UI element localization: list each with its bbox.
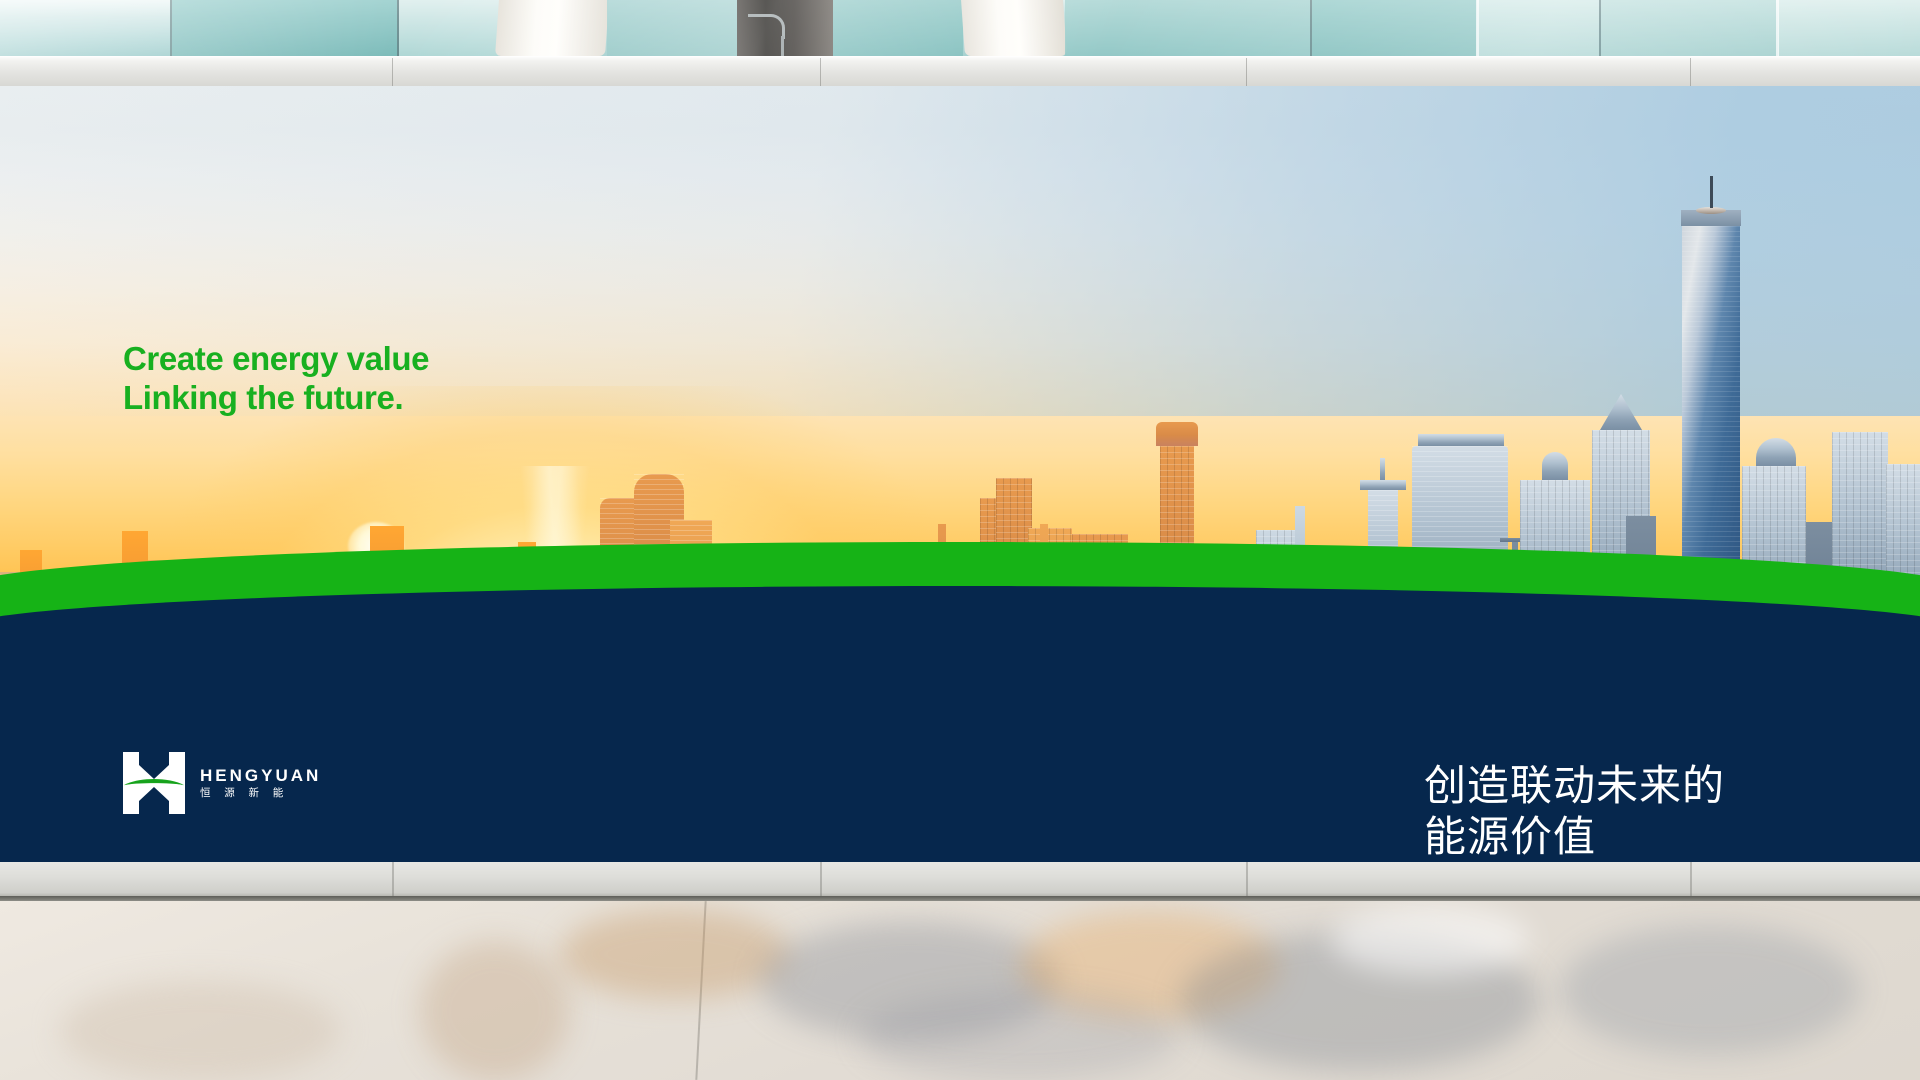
ground-stain [60,981,340,1080]
ledge-seam [820,862,822,898]
ground-stain [560,909,790,999]
building-crown [1418,434,1504,446]
ledge-seam [1690,862,1692,898]
ledge-seam [1246,862,1248,898]
ledge-seam [820,58,821,86]
glass-curtain-wall [0,0,1920,56]
ground-stain [420,941,570,1080]
hengyuan-butterfly-icon [123,752,185,814]
building-crown [1156,422,1198,446]
billboard-scene: Create energy value Linking the future. … [0,0,1920,1080]
billboard-slogan-chinese: 创造联动未来的 能源价值 [1424,760,1725,862]
ground-stain [1560,925,1860,1055]
wordmark-chinese: 恒 源 新 能 [200,788,321,799]
glass-reflection [0,0,1920,56]
headline-line-2: Linking the future. [123,379,429,418]
antenna-spire [1380,458,1385,480]
slogan-line-1: 创造联动未来的 [1424,760,1725,811]
owtc-spire [1710,176,1713,208]
ledge-seam [392,862,394,898]
billboard-panel: Create energy value Linking the future. … [0,86,1920,862]
ledge-seam [1246,58,1247,86]
slogan-line-2: 能源价值 [1424,811,1725,862]
building-crown [1360,480,1406,490]
lower-concrete-ledge [0,862,1920,898]
concrete-ground [0,901,1920,1080]
ledge-seam [392,58,393,86]
building-crown [1542,452,1568,480]
owtc-mast-ring [1696,207,1726,214]
wordmark-english: HENGYUAN [200,767,321,784]
billboard-headline: Create energy value Linking the future. [123,340,429,417]
headline-line-1: Create energy value [123,340,429,379]
ground-stain [860,991,1180,1080]
brand-logo-lockup[interactable]: HENGYUAN 恒 源 新 能 [123,752,321,814]
ground-highlight [1330,905,1530,975]
upper-concrete-ledge [0,56,1920,86]
brand-wordmark: HENGYUAN 恒 源 新 能 [200,767,321,799]
ledge-seam [1690,58,1691,86]
